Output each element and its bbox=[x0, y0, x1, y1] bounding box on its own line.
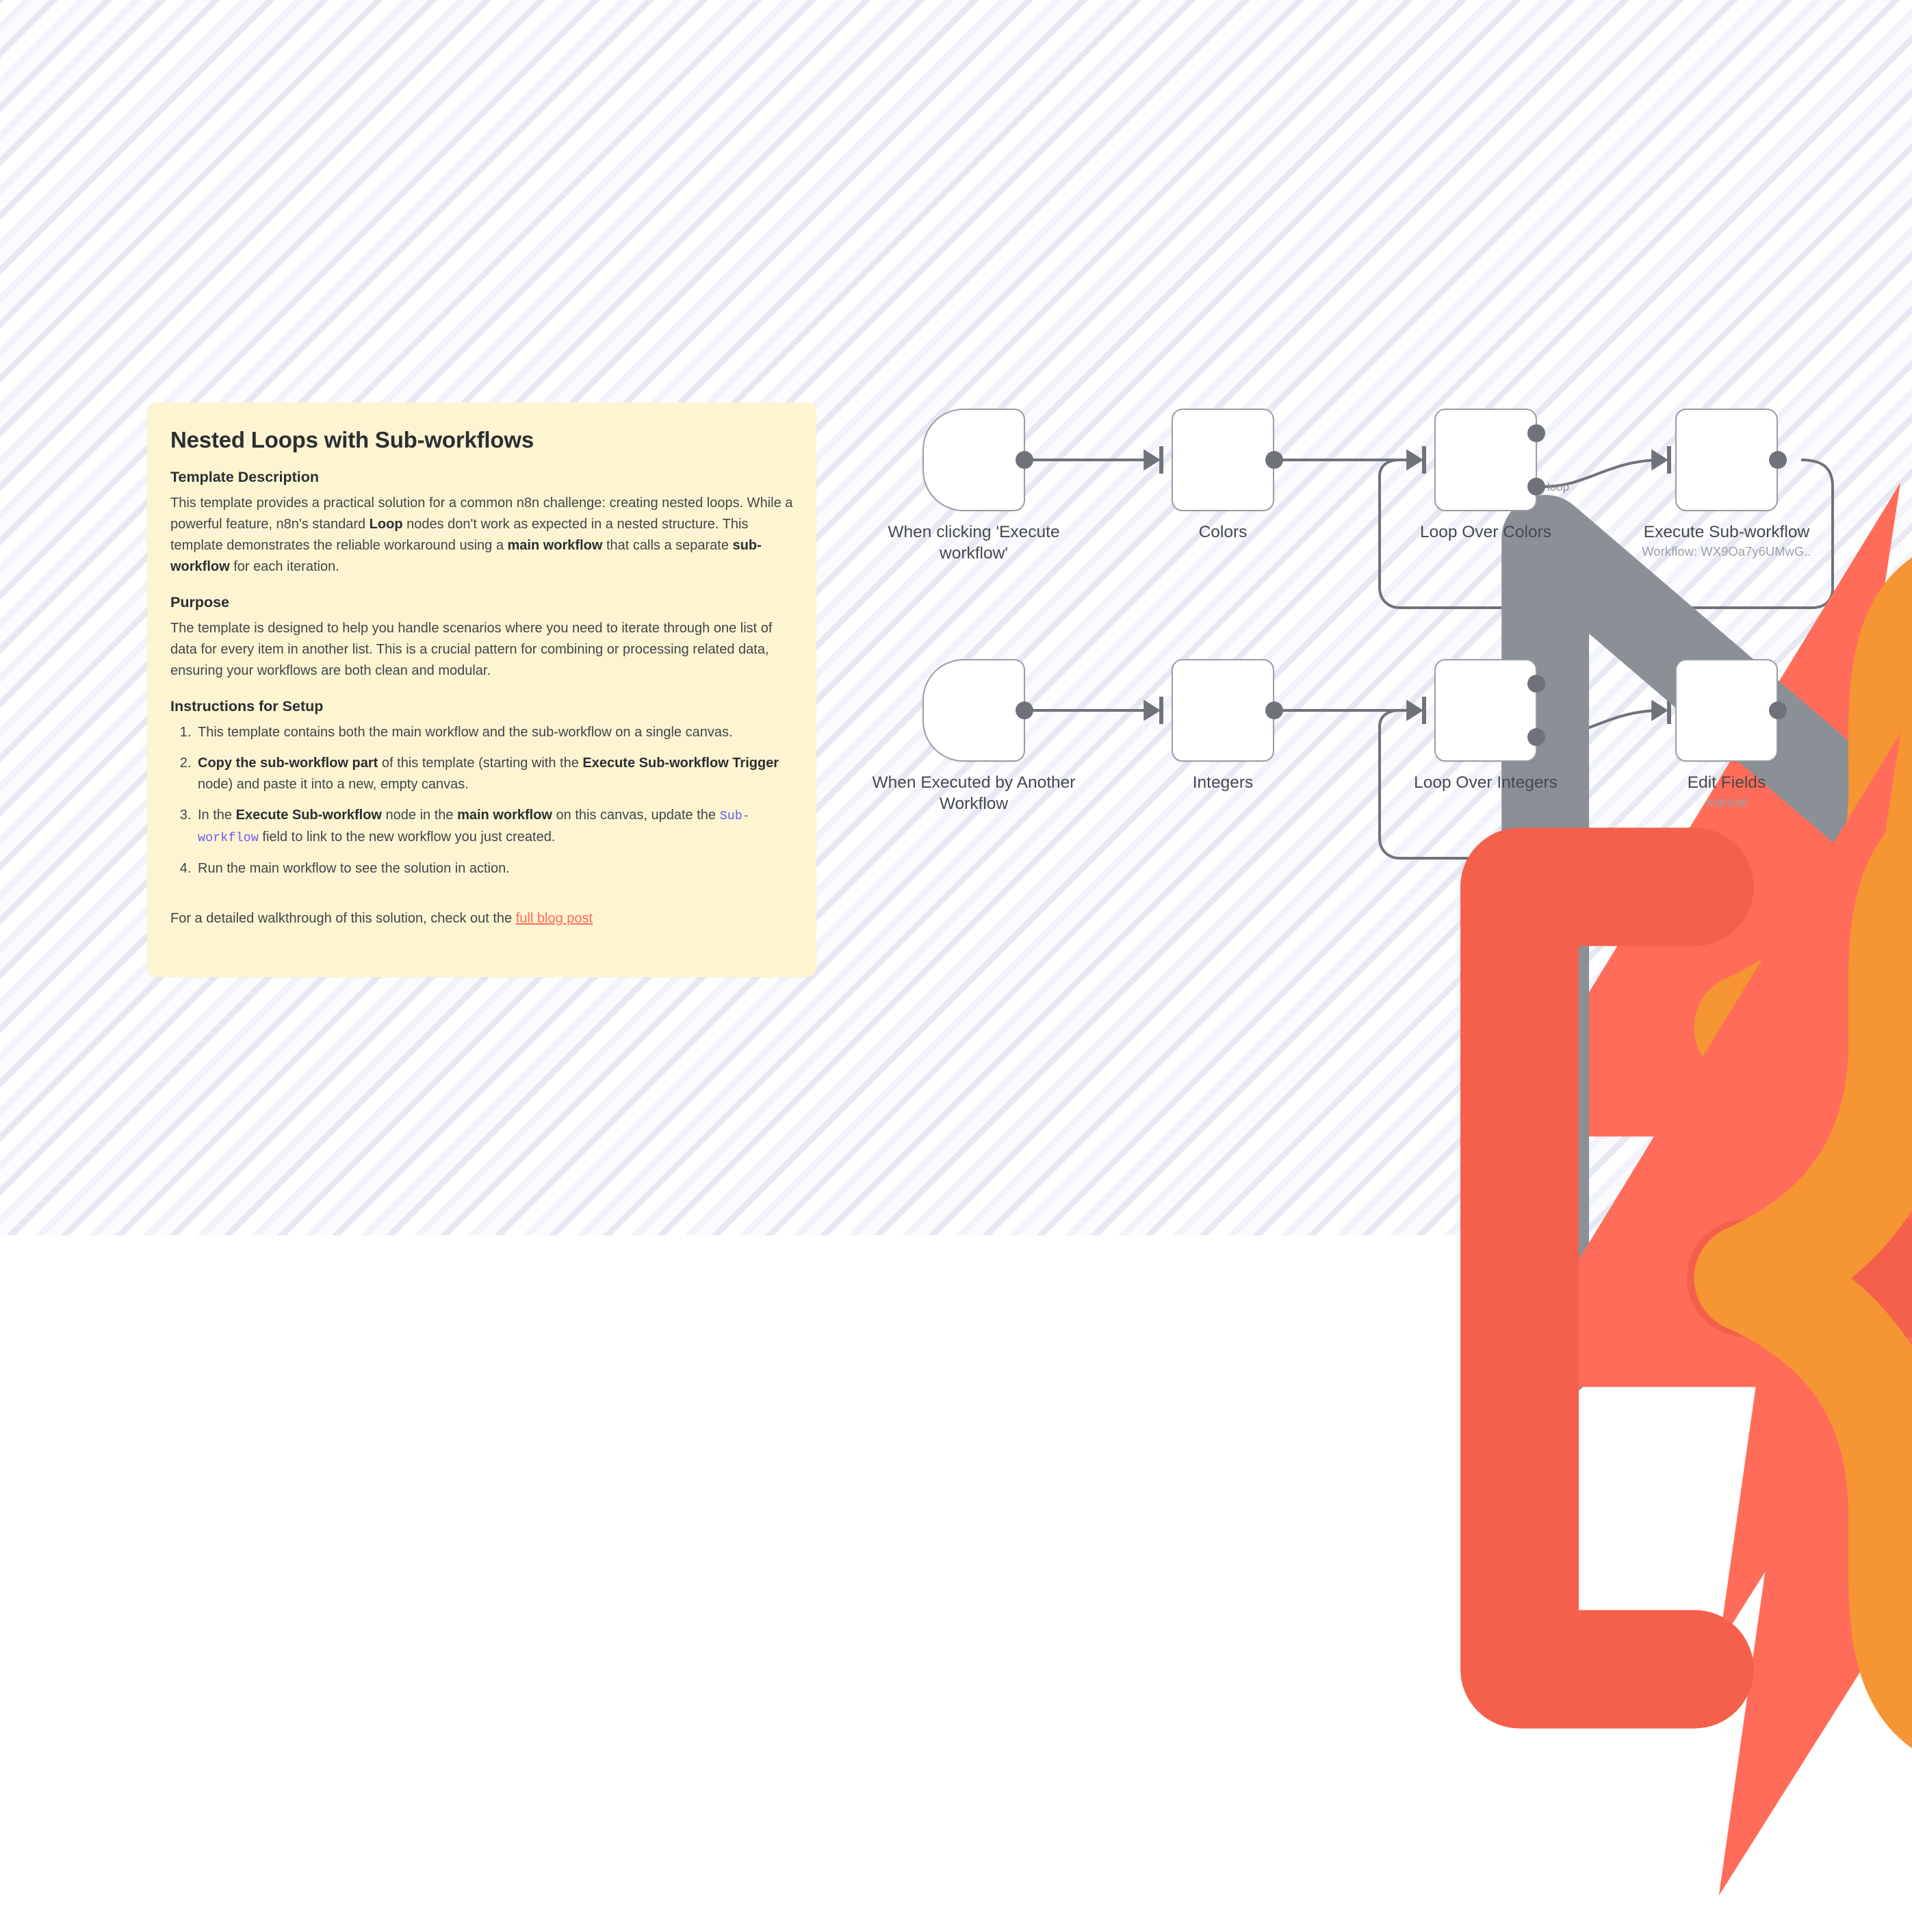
closing-line: For a detailed walkthrough of this solut… bbox=[170, 911, 793, 927]
instruction-step-2: Copy the sub-workflow part of this templ… bbox=[195, 753, 793, 795]
step4-text: Run the main workflow to see the solutio… bbox=[198, 861, 510, 876]
step1-text: This template contains both the main wor… bbox=[198, 725, 733, 740]
step2-end: node) and paste it into a new, empty can… bbox=[198, 777, 469, 792]
step2-bold-copy: Copy the sub-workflow part bbox=[198, 756, 378, 771]
step3-bold-execute-node: Execute Sub-workflow bbox=[236, 808, 382, 823]
instruction-step-4: Run the main workflow to see the solutio… bbox=[195, 858, 793, 879]
sticky-note[interactable]: Nested Loops with Sub-workflows Template… bbox=[147, 402, 816, 977]
sticky-note-title: Nested Loops with Sub-workflows bbox=[170, 426, 793, 454]
step3-b: node in the bbox=[382, 808, 457, 823]
step2-mid: of this template (starting with the bbox=[378, 756, 582, 771]
instructions-list: This template contains both the main wor… bbox=[170, 722, 793, 879]
paragraph-purpose: The template is designed to help you han… bbox=[170, 618, 793, 682]
desc-part-3: that calls a separate bbox=[602, 538, 732, 553]
heading-instructions: Instructions for Setup bbox=[170, 698, 793, 715]
step2-bold-trigger-node: Execute Sub-workflow Trigger bbox=[582, 756, 779, 771]
desc-part-4: for each iteration. bbox=[230, 559, 339, 574]
heading-purpose: Purpose bbox=[170, 594, 793, 611]
desc-bold-main-workflow: main workflow bbox=[508, 538, 603, 553]
step3-bold-main-workflow: main workflow bbox=[457, 808, 552, 823]
closing-text: For a detailed walkthrough of this solut… bbox=[170, 911, 516, 926]
step3-a: In the bbox=[198, 808, 236, 823]
instruction-step-1: This template contains both the main wor… bbox=[195, 722, 793, 743]
step3-c: on this canvas, update the bbox=[552, 808, 720, 823]
instruction-step-3: In the Execute Sub-workflow node in the … bbox=[195, 805, 793, 848]
heading-template-description: Template Description bbox=[170, 469, 793, 486]
paragraph-template-description: This template provides a practical solut… bbox=[170, 493, 793, 578]
desc-bold-loop: Loop bbox=[370, 517, 403, 532]
step3-d: field to link to the new workflow you ju… bbox=[259, 829, 556, 845]
full-blog-post-link[interactable]: full blog post bbox=[516, 911, 593, 926]
